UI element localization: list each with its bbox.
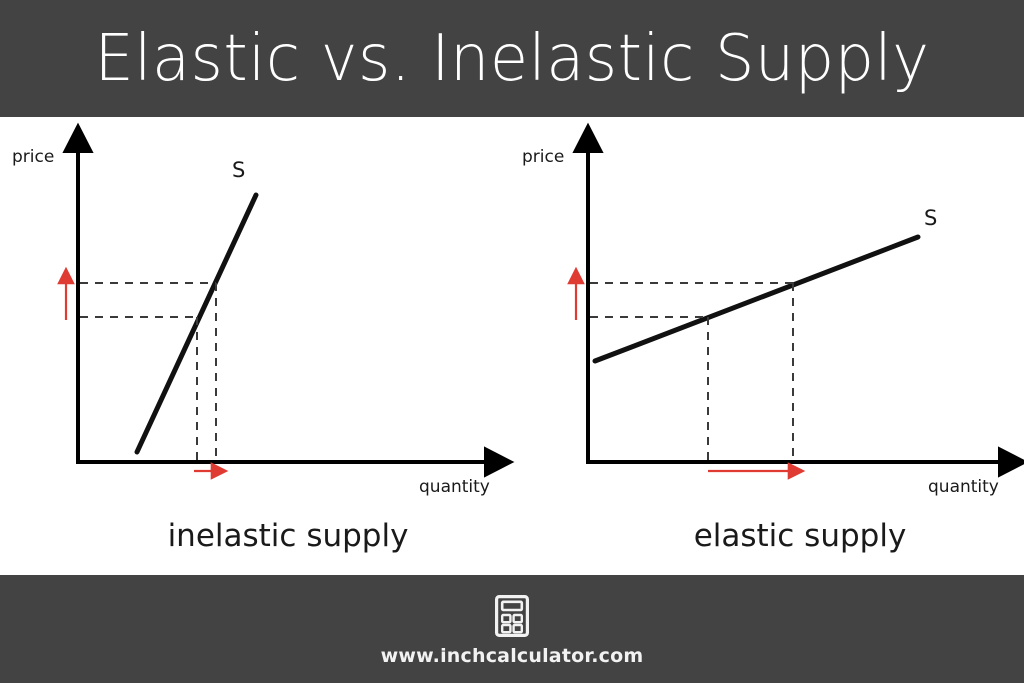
inelastic-x-axis-label: quantity — [419, 477, 490, 497]
charts-area: price quantity S price — [0, 117, 1024, 575]
footer-website-url[interactable]: www.inchcalculator.com — [381, 647, 644, 666]
calculator-icon — [495, 595, 529, 637]
page-title: Elastic vs. Inelastic Supply — [15, 0, 1008, 117]
elastic-curve-label: S — [924, 206, 937, 230]
caption-inelastic-supply: inelastic supply — [68, 521, 508, 552]
elastic-x-axis-label: quantity — [928, 477, 999, 497]
charts-svg: price quantity S price — [0, 117, 1024, 575]
infographic-canvas: Elastic vs. Inelastic Supply — [0, 0, 1024, 683]
chart-inelastic: price quantity S — [12, 145, 492, 497]
header-band: Elastic vs. Inelastic Supply — [0, 0, 1024, 117]
chart-elastic: price quantity S — [522, 145, 1006, 497]
elastic-supply-curve — [595, 237, 918, 361]
caption-elastic-supply: elastic supply — [580, 521, 1020, 552]
elastic-y-axis-label: price — [522, 147, 564, 167]
inelastic-y-axis-label: price — [12, 147, 54, 167]
inelastic-curve-label: S — [232, 158, 245, 182]
footer-band: www.inchcalculator.com — [0, 575, 1024, 683]
